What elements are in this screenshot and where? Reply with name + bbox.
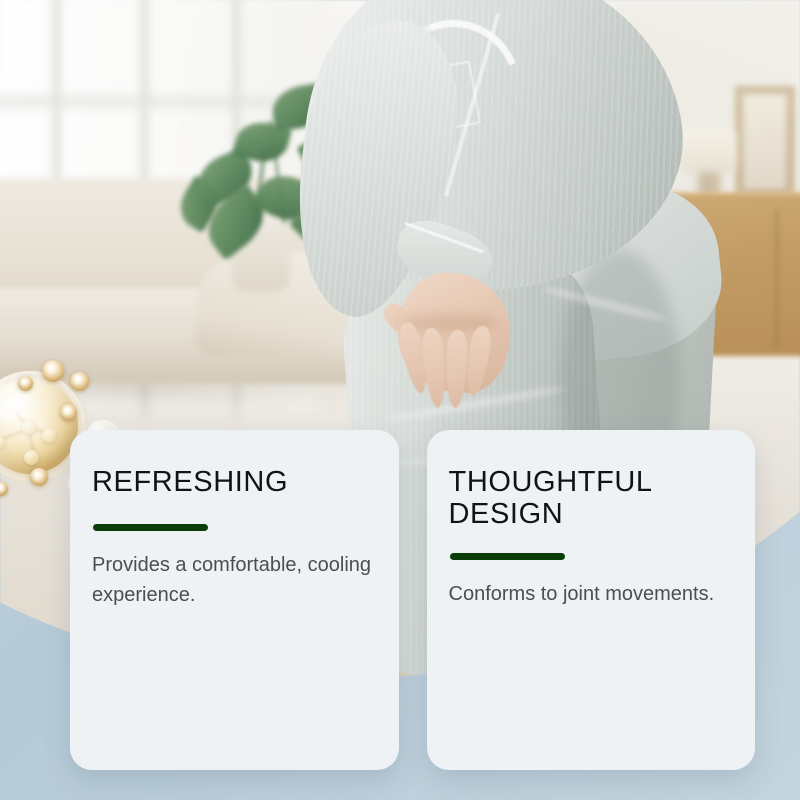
feature-card-description: Provides a comfortable, cooling experien… [92,551,377,610]
feature-card-list: REFRESHING Provides a comfortable, cooli… [70,430,755,770]
accent-rule [93,524,208,531]
gold-crystal-icon [0,482,8,496]
feature-card-thoughtful-design: THOUGHTFUL DESIGN Conforms to joint move… [427,430,756,770]
gold-crystal-icon [18,376,33,391]
gold-crystal-icon [60,404,77,421]
feature-card-description: Conforms to joint movements. [449,580,734,610]
feature-card-refreshing: REFRESHING Provides a comfortable, cooli… [70,430,399,770]
gold-crystal-icon [30,468,48,486]
product-feature-poster: REFRESHING Provides a comfortable, cooli… [0,0,800,800]
gold-crystal-icon [70,372,89,391]
feature-card-title: THOUGHTFUL DESIGN [449,466,734,531]
gold-crystal-icon [42,360,64,382]
feature-card-title: REFRESHING [92,466,377,498]
accent-rule [450,553,565,560]
